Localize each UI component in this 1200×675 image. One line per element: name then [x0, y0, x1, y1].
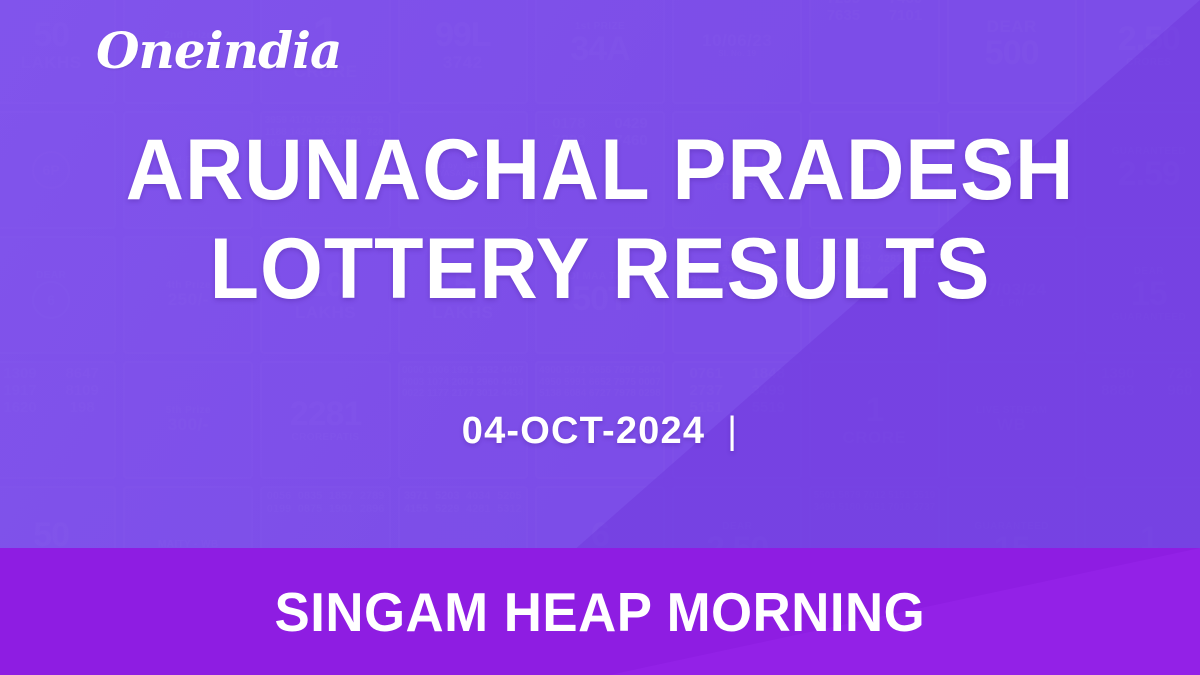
result-date-line: 04-OCT-2024| [0, 410, 1200, 453]
page-title: ARUNACHAL PRADESH LOTTERY RESULTS [0, 128, 1200, 312]
hero-section: Oneindia ARUNACHAL PRADESH LOTTERY RESUL… [0, 0, 1200, 548]
lottery-result-banner: 50LAKHS 2nd Prize9000/- 1CRORE 99L3742 1… [0, 0, 1200, 675]
draw-name-label: SINGAM HEAP MORNING [275, 580, 926, 644]
page-title-line-1: ARUNACHAL PRADESH [36, 128, 1164, 213]
draw-name-banner: SINGAM HEAP MORNING [0, 548, 1200, 675]
page-title-line-2: LOTTERY RESULTS [36, 227, 1164, 312]
result-date: 04-OCT-2024 [462, 410, 705, 452]
oneindia-logo[interactable]: Oneindia [96, 26, 341, 76]
date-separator: | [727, 410, 738, 453]
